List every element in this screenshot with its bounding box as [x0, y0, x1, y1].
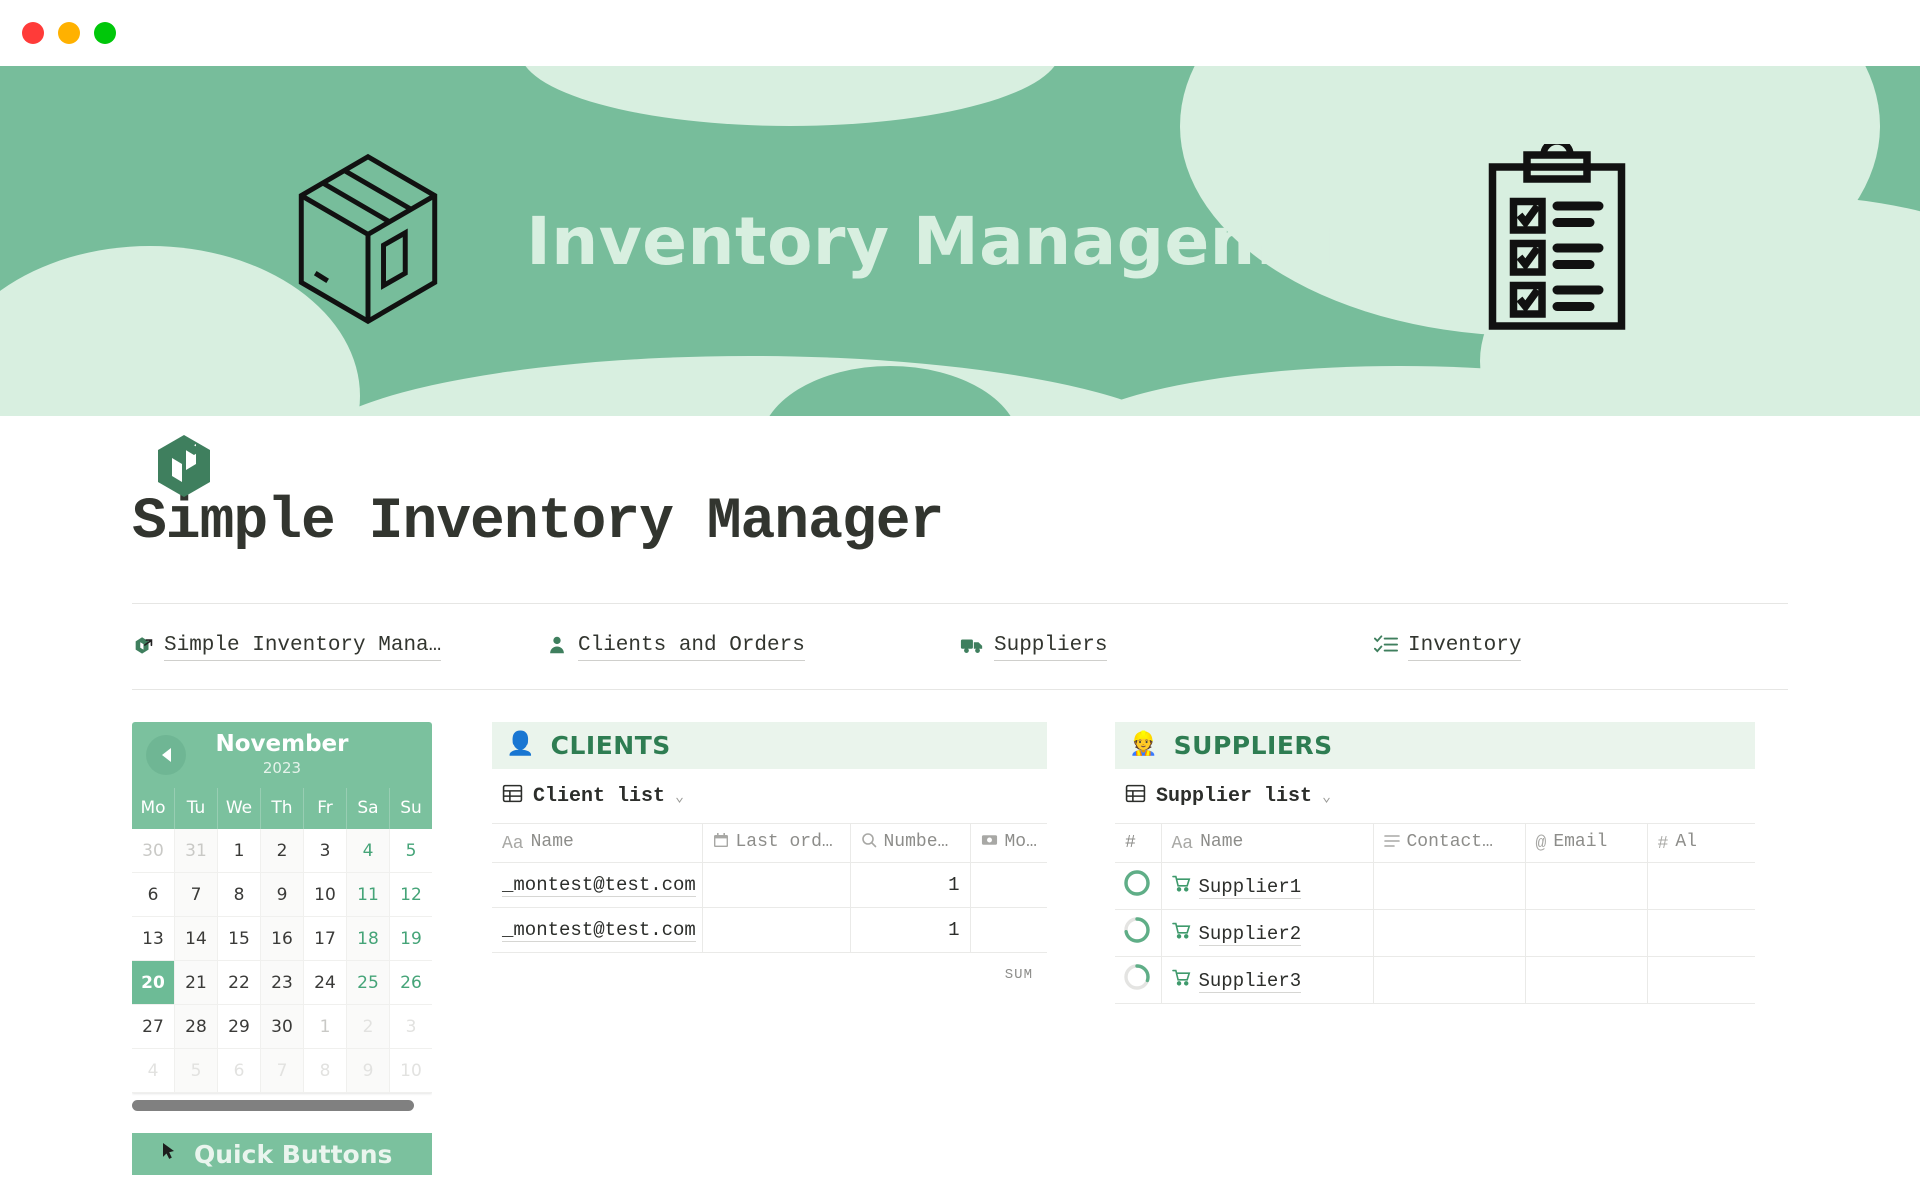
nav-divider: [132, 689, 1788, 690]
clients-section-header: 👤 CLIENTS: [492, 722, 1047, 769]
calendar-widget: November 2023 MoTuWeThFrSaSu 30311234567…: [132, 722, 432, 1111]
calendar-day-cell[interactable]: 12: [390, 873, 432, 917]
suppliers-col-contact[interactable]: Contact…: [1373, 824, 1525, 863]
suppliers-view-name: Supplier list: [1156, 785, 1312, 808]
calendar-horizontal-scrollbar[interactable]: [132, 1100, 414, 1111]
supplier-al-cell[interactable]: [1647, 910, 1755, 957]
calendar-day-cell[interactable]: 4: [132, 1049, 175, 1093]
calendar-day-cell[interactable]: 1: [304, 1005, 347, 1049]
calendar-day-cell[interactable]: 2: [261, 829, 304, 873]
clients-col-name[interactable]: AaName: [492, 824, 702, 863]
calendar-day-cell[interactable]: 2: [347, 1005, 390, 1049]
title-divider: [132, 603, 1788, 604]
suppliers-table: # AaName Contact… @Email: [1115, 823, 1755, 1004]
client-name-cell[interactable]: _montest@test.com: [492, 908, 702, 953]
cart-icon: [1172, 876, 1191, 898]
page-title: Simple Inventory Manager: [132, 490, 1920, 555]
calendar-day-cell[interactable]: 25: [347, 961, 390, 1005]
supplier-email-cell[interactable]: [1525, 863, 1647, 910]
client-money-cell[interactable]: [970, 863, 1047, 908]
client-last-order-cell[interactable]: [702, 863, 850, 908]
supplier-name-cell[interactable]: Supplier1: [1161, 863, 1373, 910]
quick-buttons-header[interactable]: Quick Buttons: [132, 1133, 432, 1175]
clients-table-row[interactable]: _montest@test.com1: [492, 863, 1047, 908]
calendar-dow-row: MoTuWeThFrSaSu: [132, 788, 432, 829]
client-number-cell[interactable]: 1: [850, 908, 970, 953]
calendar-day-cell[interactable]: 7: [175, 873, 218, 917]
formula-icon: [861, 832, 877, 854]
at-icon: @: [1536, 834, 1547, 854]
calendar-day-cell[interactable]: 11: [347, 873, 390, 917]
clients-table-header-row: AaName Last ord… Numbe…: [492, 824, 1047, 863]
calendar-day-cell[interactable]: 7: [261, 1049, 304, 1093]
calendar-day-cell[interactable]: 5: [175, 1049, 218, 1093]
suppliers-section-header: 👷 SUPPLIERS: [1115, 722, 1755, 769]
suppliers-table-header-row: # AaName Contact… @Email: [1115, 824, 1755, 863]
calendar-dow-su: Su: [390, 788, 432, 829]
calendar-day-cell[interactable]: 6: [132, 873, 175, 917]
supplier-progress-cell[interactable]: [1115, 957, 1161, 1004]
supplier-name-cell[interactable]: Supplier2: [1161, 910, 1373, 957]
banner-title: Inventory Management: [526, 203, 1404, 280]
calendar-week-row: 303112345: [132, 829, 432, 873]
calendar-day-cell[interactable]: 8: [218, 873, 261, 917]
clipboard-checklist-icon: [1482, 144, 1632, 339]
suppliers-col-name[interactable]: AaName: [1161, 824, 1373, 863]
calendar-dow-th: Th: [261, 788, 304, 829]
client-number-cell[interactable]: 1: [850, 863, 970, 908]
cursor-click-icon: [156, 1140, 180, 1169]
truck-icon: [960, 634, 984, 661]
window-titlebar: [0, 0, 1920, 66]
calendar-day-cell[interactable]: 26: [390, 961, 432, 1005]
client-name-cell[interactable]: _montest@test.com: [492, 863, 702, 908]
calendar-icon: [713, 832, 729, 854]
calendar-day-cell[interactable]: 6: [218, 1049, 261, 1093]
calendar-day-cell[interactable]: 27: [132, 1005, 175, 1049]
calendar-week-row: 20212223242526: [132, 961, 432, 1005]
text-lines-icon: [1384, 834, 1400, 854]
clients-col-number[interactable]: Numbe…: [850, 824, 970, 863]
calendar-day-cell[interactable]: 15: [218, 917, 261, 961]
calendar-year: 2023: [215, 759, 348, 777]
page-banner: Inventory Management: [0, 66, 1920, 416]
maximize-button[interactable]: [94, 22, 116, 44]
calendar-grid: 3031123456789101112131415161718192021222…: [132, 829, 432, 1093]
calendar-day-cell[interactable]: 24: [304, 961, 347, 1005]
calendar-week-row: 13141516171819: [132, 917, 432, 961]
calendar-dow-mo: Mo: [132, 788, 175, 829]
checklist-icon: [1374, 634, 1398, 661]
minimize-button[interactable]: [58, 22, 80, 44]
nav-item-simple-inventory-manager[interactable]: Simple Inventory Mana…: [132, 634, 546, 661]
suppliers-col-al[interactable]: #Al: [1647, 824, 1755, 863]
calendar-header: November 2023: [132, 722, 432, 788]
calendar-day-cell[interactable]: 3: [304, 829, 347, 873]
person-icon: [546, 634, 568, 661]
calendar-day-cell[interactable]: 10: [390, 1049, 432, 1093]
supplier-contact-cell[interactable]: [1373, 863, 1525, 910]
page-link-icon: [132, 634, 154, 661]
calendar-day-cell[interactable]: 20: [132, 961, 175, 1005]
chevron-down-icon[interactable]: ⌄: [1322, 787, 1331, 806]
calendar-day-cell[interactable]: 5: [390, 829, 432, 873]
clients-table: AaName Last ord… Numbe…: [492, 823, 1047, 953]
supplier-name-cell[interactable]: Supplier3: [1161, 957, 1373, 1004]
calendar-day-cell[interactable]: 13: [132, 917, 175, 961]
clients-heading: CLIENTS: [551, 731, 671, 760]
nav-item-label: Simple Inventory Mana…: [164, 634, 441, 661]
calendar-day-cell[interactable]: 19: [390, 917, 432, 961]
clients-view-selector[interactable]: Client list ⌄: [492, 769, 1047, 823]
cart-icon: [1172, 923, 1191, 945]
nav-item-suppliers[interactable]: Suppliers: [960, 634, 1374, 661]
calendar-day-cell[interactable]: 14: [175, 917, 218, 961]
supplier-progress-cell[interactable]: [1115, 863, 1161, 910]
clients-panel: 👤 CLIENTS Client list ⌄: [492, 722, 1047, 983]
supplier-email-cell[interactable]: [1525, 957, 1647, 1004]
calendar-week-row: 6789101112: [132, 873, 432, 917]
nav-item-label: Suppliers: [994, 634, 1107, 661]
calendar-dow-fr: Fr: [304, 788, 347, 829]
supplier-al-cell[interactable]: [1647, 957, 1755, 1004]
supplier-progress-cell[interactable]: [1115, 910, 1161, 957]
client-money-cell[interactable]: [970, 908, 1047, 953]
suppliers-table-row[interactable]: Supplier2: [1115, 910, 1755, 957]
calendar-day-cell[interactable]: 18: [347, 917, 390, 961]
close-button[interactable]: [22, 22, 44, 44]
calendar-day-cell[interactable]: 31: [175, 829, 218, 873]
calendar-day-cell[interactable]: 10: [304, 873, 347, 917]
calendar-dow-sa: Sa: [347, 788, 390, 829]
worker-emoji-icon: 👷: [1129, 734, 1158, 757]
supplier-contact-cell[interactable]: [1373, 957, 1525, 1004]
nav-item-inventory[interactable]: Inventory: [1374, 634, 1788, 661]
clients-table-row[interactable]: _montest@test.com1: [492, 908, 1047, 953]
clients-col-last-order[interactable]: Last ord…: [702, 824, 850, 863]
supplier-email-cell[interactable]: [1525, 910, 1647, 957]
calendar-day-cell[interactable]: 16: [261, 917, 304, 961]
client-last-order-cell[interactable]: [702, 908, 850, 953]
suppliers-table-row[interactable]: Supplier1: [1115, 863, 1755, 910]
quick-buttons-label: Quick Buttons: [194, 1140, 392, 1169]
calendar-month: November: [215, 733, 348, 756]
clients-col-money[interactable]: Mo…: [970, 824, 1047, 863]
supplier-al-cell[interactable]: [1647, 863, 1755, 910]
calendar-dow-tu: Tu: [175, 788, 218, 829]
person-emoji-icon: 👤: [506, 734, 535, 757]
calendar-day-cell[interactable]: 9: [261, 873, 304, 917]
table-view-icon: [1125, 783, 1146, 809]
calendar-day-cell[interactable]: 21: [175, 961, 218, 1005]
package-box-icon: [288, 149, 448, 334]
suppliers-panel: 👷 SUPPLIERS Supplier list ⌄ #: [1115, 722, 1755, 1004]
cart-icon: [1172, 970, 1191, 992]
calendar-week-row: 45678910: [132, 1049, 432, 1093]
text-type-icon: Aa: [1172, 834, 1194, 854]
suppliers-col-email[interactable]: @Email: [1525, 824, 1647, 863]
calendar-day-cell[interactable]: 3: [390, 1005, 432, 1049]
calendar-column: November 2023 MoTuWeThFrSaSu 30311234567…: [132, 722, 432, 1175]
calendar-day-cell[interactable]: 17: [304, 917, 347, 961]
calendar-day-cell[interactable]: 9: [347, 1049, 390, 1093]
suppliers-view-selector[interactable]: Supplier list ⌄: [1115, 769, 1755, 823]
clients-view-name: Client list: [533, 785, 665, 808]
suppliers-table-row[interactable]: Supplier3: [1115, 957, 1755, 1004]
money-icon: [981, 832, 998, 854]
clients-sum-label: SUM: [492, 953, 1047, 983]
nav-item-clients-and-orders[interactable]: Clients and Orders: [546, 634, 960, 661]
calendar-day-cell[interactable]: 30: [261, 1005, 304, 1049]
calendar-day-cell[interactable]: 28: [175, 1005, 218, 1049]
calendar-dow-we: We: [218, 788, 261, 829]
supplier-contact-cell[interactable]: [1373, 910, 1525, 957]
calendar-day-cell[interactable]: 4: [347, 829, 390, 873]
calendar-week-row: 27282930123: [132, 1005, 432, 1049]
suppliers-heading: SUPPLIERS: [1174, 731, 1333, 760]
calendar-day-cell[interactable]: 8: [304, 1049, 347, 1093]
calendar-prev-button[interactable]: [146, 735, 186, 775]
calendar-day-cell[interactable]: 1: [218, 829, 261, 873]
suppliers-col-index[interactable]: #: [1115, 824, 1161, 863]
hash-icon: #: [1658, 834, 1669, 854]
calendar-day-cell[interactable]: 22: [218, 961, 261, 1005]
table-view-icon: [502, 783, 523, 809]
nav-item-label: Inventory: [1408, 634, 1521, 661]
calendar-day-cell[interactable]: 29: [218, 1005, 261, 1049]
page-nav: Simple Inventory Mana… Clients and Order…: [132, 634, 1788, 661]
calendar-day-cell[interactable]: 30: [132, 829, 175, 873]
nav-item-label: Clients and Orders: [578, 634, 805, 661]
calendar-day-cell[interactable]: 23: [261, 961, 304, 1005]
text-type-icon: Aa: [502, 834, 524, 854]
inventory-cube-logo: [152, 430, 216, 507]
chevron-down-icon[interactable]: ⌄: [675, 787, 684, 806]
